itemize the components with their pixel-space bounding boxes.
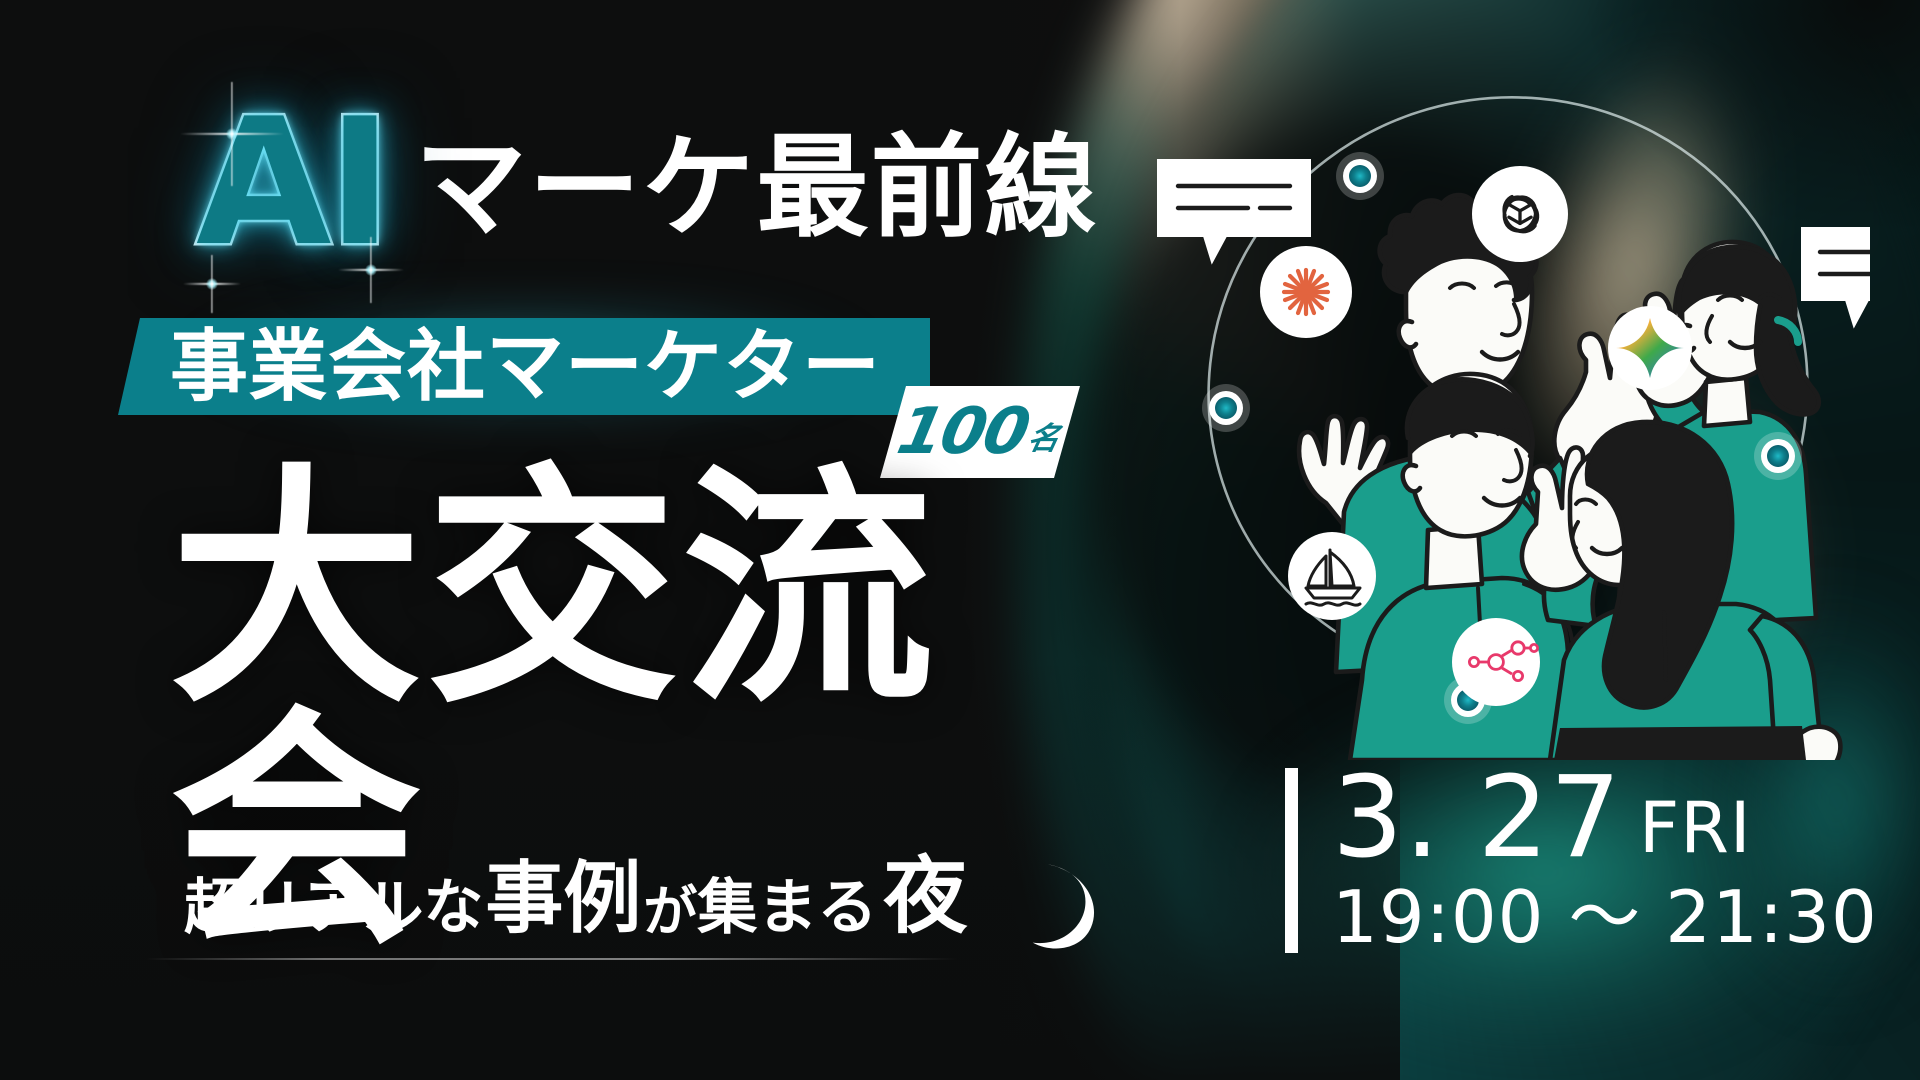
- people-illustration: [1130, 60, 1870, 760]
- tagline-part-5: 夜: [877, 854, 967, 938]
- orbit-node: [1202, 384, 1250, 432]
- tagline-part-3: が: [643, 884, 697, 938]
- claude-sunburst-icon: [1260, 246, 1352, 338]
- audience-band: 事業会社マーケター: [118, 318, 930, 415]
- tagline: 超リアルな 事例 が 集まる 夜: [184, 854, 967, 938]
- tagline-part-2: 事例: [483, 860, 643, 938]
- tagline-part-4: 集まる: [697, 878, 877, 938]
- openai-icon: [1472, 166, 1568, 262]
- orbit-node: [1754, 432, 1802, 480]
- ai-logo-text: AI: [196, 82, 389, 285]
- audience-band-label: 事業会社マーケター: [170, 328, 881, 406]
- headline-group: AI マーケ最前線 事業会社マーケター 100 名 大交流会 超リアルな 事例: [0, 0, 1180, 1080]
- event-time-range: 19:00 〜 21:30: [1332, 881, 1878, 953]
- crescent-moon-icon: [1012, 858, 1106, 952]
- node-graph-icon: [1452, 618, 1540, 706]
- gemini-star-icon: [1608, 306, 1692, 390]
- event-date: 3. 27: [1332, 768, 1622, 869]
- capacity-unit: 名: [1021, 423, 1063, 461]
- schedule-block: 3. 27 FRI 19:00 〜 21:30: [1285, 768, 1878, 953]
- tagline-part-1: 超リアルな: [184, 878, 483, 938]
- speech-bubble-icon: [1158, 160, 1310, 262]
- audience-band-group: 事業会社マーケター 100 名: [118, 318, 930, 415]
- event-day-of-week: FRI: [1622, 793, 1752, 869]
- ai-neon-logo: AI: [196, 112, 389, 258]
- sailboat-icon: [1288, 532, 1376, 620]
- headline-row: AI マーケ最前線: [196, 112, 1099, 258]
- orbit-node: [1336, 152, 1384, 200]
- headline-subtitle: マーケ最前線: [415, 132, 1099, 258]
- event-banner: AI マーケ最前線 事業会社マーケター 100 名 大交流会 超リアルな 事例: [0, 0, 1920, 1080]
- schedule-accent-bar: [1285, 768, 1298, 953]
- speech-bubble-icon: [1802, 228, 1870, 326]
- divider-rule: [146, 958, 958, 960]
